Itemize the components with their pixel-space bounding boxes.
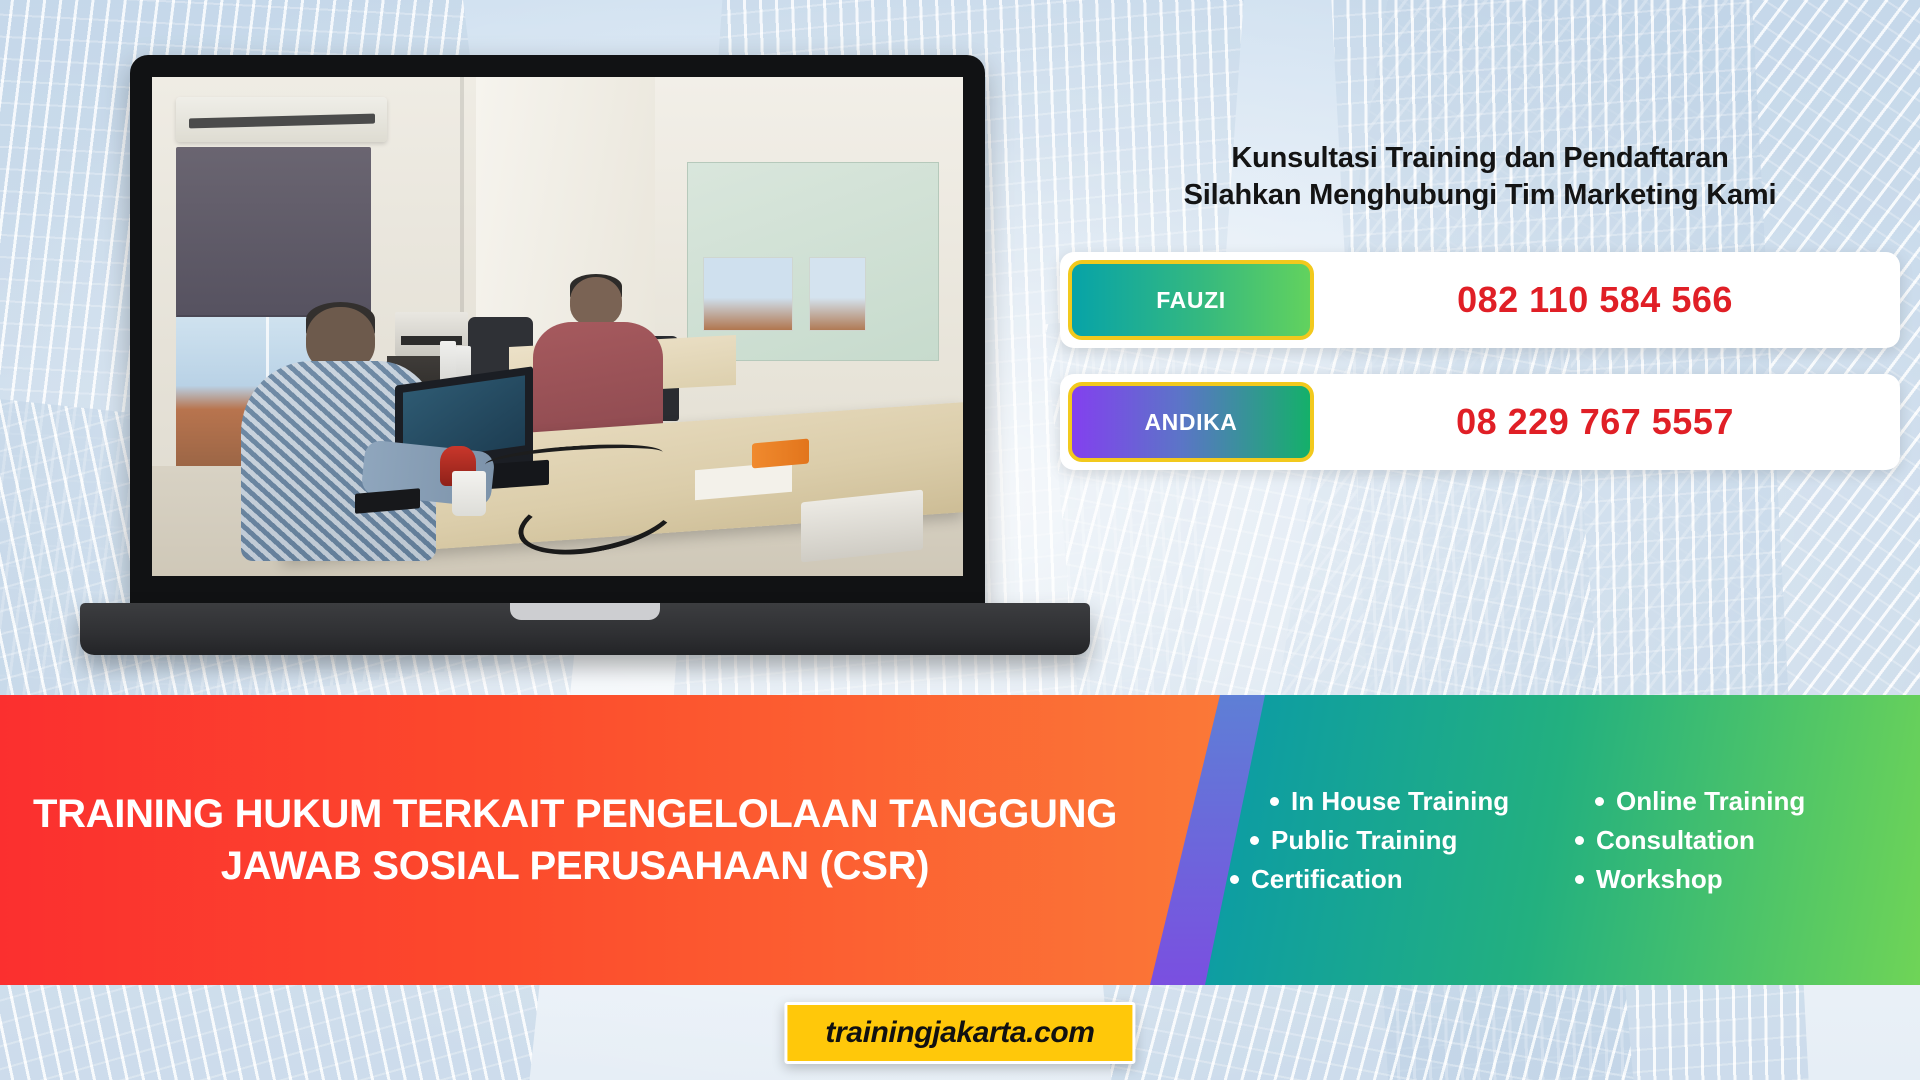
contact-name-badge-andika: ANDIKA [1068,382,1314,462]
laptop-screen [152,77,963,576]
photo-air-conditioner [176,97,387,142]
service-item-workshop: Workshop [1575,864,1920,895]
service-item-online-training: Online Training [1575,786,1920,817]
service-item-consultation: Consultation [1575,825,1920,856]
training-title: TRAINING HUKUM TERKAIT PENGELOLAAN TANGG… [0,695,1150,985]
service-label: Public Training [1271,825,1457,856]
service-label: Certification [1251,864,1403,895]
bullet-icon [1250,836,1259,845]
website-url: trainingjakarta.com [825,1016,1094,1049]
photo-whiteboard-poster-2 [809,257,866,332]
website-badge[interactable]: trainingjakarta.com [784,1002,1135,1064]
services-list: In House Training Online Training Public… [1230,717,1920,963]
contact-phone-andika[interactable]: 08 229 767 5557 [1314,401,1900,443]
laptop-base [80,603,1090,655]
service-item-certification: Certification [1230,864,1575,895]
service-item-in-house-training: In House Training [1230,786,1575,817]
service-label: Workshop [1596,864,1723,895]
bullet-icon [1230,875,1239,884]
photo-window-blind [176,147,371,317]
laptop-lid [130,55,985,610]
laptop-mockup [40,55,1085,655]
bottom-banner: TRAINING HUKUM TERKAIT PENGELOLAAN TANGG… [0,695,1920,985]
contact-card-fauzi[interactable]: FAUZI 082 110 584 566 [1060,252,1900,348]
contact-card-andika[interactable]: ANDIKA 08 229 767 5557 [1060,374,1900,470]
photo-orange-item [752,439,809,469]
contact-phone-fauzi[interactable]: 082 110 584 566 [1314,279,1900,321]
bullet-icon [1575,836,1584,845]
contact-heading-line-2: Silahkan Menghubungi Tim Marketing Kami [1184,179,1777,211]
photo-participant-2-head [570,277,623,327]
training-session-photo [152,77,963,576]
training-title-line-2: JAWAB SOSIAL PERUSAHAAN (CSR) [221,844,929,888]
service-label: Consultation [1596,825,1755,856]
contact-heading-line-1: Kunsultasi Training dan Pendaftaran [1231,142,1728,174]
contact-name-badge-fauzi: FAUZI [1068,260,1314,340]
bullet-icon [1595,797,1604,806]
training-title-line-1: TRAINING HUKUM TERKAIT PENGELOLAAN TANGG… [33,792,1117,836]
bullet-icon [1575,875,1584,884]
contact-panel: Kunsultasi Training dan Pendaftaran Sila… [1060,140,1900,470]
laptop-trackpad-notch [510,603,660,620]
photo-whiteboard-poster-1 [703,257,792,332]
service-label: In House Training [1291,786,1509,817]
photo-glass [452,471,486,516]
bullet-icon [1270,797,1279,806]
photo-participant-2-body [533,322,663,442]
service-item-public-training: Public Training [1230,825,1575,856]
contact-heading: Kunsultasi Training dan Pendaftaran Sila… [1060,140,1900,214]
service-label: Online Training [1616,786,1805,817]
